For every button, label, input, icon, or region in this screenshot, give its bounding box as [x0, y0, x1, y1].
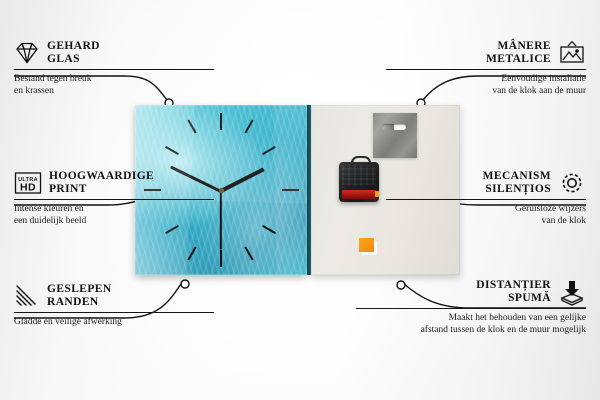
callout-subtitle: Geruisloze wijzers van de klok — [386, 204, 586, 227]
clock-tick — [220, 113, 222, 130]
hanger-keyhole-slot — [382, 124, 406, 130]
clock-tick — [244, 247, 253, 261]
callout-title-row: MÂNERE METALICE — [386, 40, 586, 66]
callout-title: GEHARD GLAS — [47, 40, 100, 66]
callout-title: HOOGWAARDIGE PRINT — [49, 170, 154, 196]
foam-spacer — [359, 238, 374, 252]
callout-subtitle: Bestand tegen breuk en krassen — [14, 74, 214, 97]
ultra-hd-icon: ultra HD — [14, 171, 42, 195]
clock-hub — [219, 188, 224, 193]
callout-title-row: GESLEPEN RANDEN — [14, 283, 214, 309]
clock-tick — [220, 250, 222, 267]
callout-divider — [386, 69, 586, 70]
movement-vents — [342, 165, 376, 185]
callout-subtitle: Intense kleuren en een duidelijk beeld — [14, 204, 214, 227]
callout-title-row: ultra HD HOOGWAARDIGE PRINT — [14, 170, 214, 196]
callout-title-row: MECANISM SILENȚIOS — [386, 170, 586, 196]
clock-hour-hand — [220, 167, 265, 192]
callout-subtitle: Eenvoudige installatie van de klok aan d… — [386, 74, 586, 97]
ultra-hd-icon-large-text: HD — [20, 182, 36, 194]
callout-divider — [386, 199, 586, 200]
clock-tick — [262, 225, 276, 234]
diamond-icon — [14, 41, 40, 65]
beveled-edge-icon — [14, 284, 40, 308]
clock-tick — [282, 189, 299, 191]
clock-tick — [262, 146, 276, 155]
callout-title: MECANISM SILENȚIOS — [483, 170, 551, 196]
callout-title: DISTANȚIER SPUMĂ — [476, 279, 551, 305]
callout-title: MÂNERE METALICE — [486, 40, 551, 66]
clock-tick — [165, 146, 179, 155]
infographic-canvas: GEHARD GLAS Bestand tegen breuk en krass… — [0, 0, 600, 400]
clock-tick — [244, 120, 253, 134]
clock-tick — [187, 120, 196, 134]
battery — [342, 190, 376, 199]
callout-divider — [14, 69, 214, 70]
callout-divider — [14, 312, 214, 313]
down-arrow-platform-icon — [558, 279, 586, 305]
clock-tick — [187, 247, 196, 261]
callout-silent-mechanism: MECANISM SILENȚIOS Geruisloze wijzers va… — [386, 170, 586, 227]
callout-title-row: GEHARD GLAS — [14, 40, 214, 66]
callout-high-quality-print: ultra HD HOOGWAARDIGE PRINT Intense kleu… — [14, 170, 214, 227]
callout-foam-spacer: DISTANȚIER SPUMĂ Maakt het behouden van … — [356, 279, 586, 336]
callout-polished-edges: GESLEPEN RANDEN Gladde en veilige afwerk… — [14, 283, 214, 329]
callout-divider — [14, 199, 214, 200]
callout-subtitle: Maakt het behouden van een gelijke afsta… — [356, 313, 586, 336]
callout-metal-handles: MÂNERE METALICE Eenvoudige installatie v… — [386, 40, 586, 97]
hanging-picture-icon — [558, 40, 586, 66]
callout-title-row: DISTANȚIER SPUMĂ — [356, 279, 586, 305]
callout-title: GESLEPEN RANDEN — [47, 283, 112, 309]
callout-tempered-glass: GEHARD GLAS Bestand tegen breuk en krass… — [14, 40, 214, 97]
clock-second-hand — [220, 191, 222, 249]
callout-divider — [356, 308, 586, 309]
quartz-movement — [339, 162, 379, 202]
callout-subtitle: Gladde en veilige afwerking — [14, 317, 214, 329]
metal-hanger-plate — [373, 113, 417, 158]
gear-icon — [558, 170, 586, 196]
